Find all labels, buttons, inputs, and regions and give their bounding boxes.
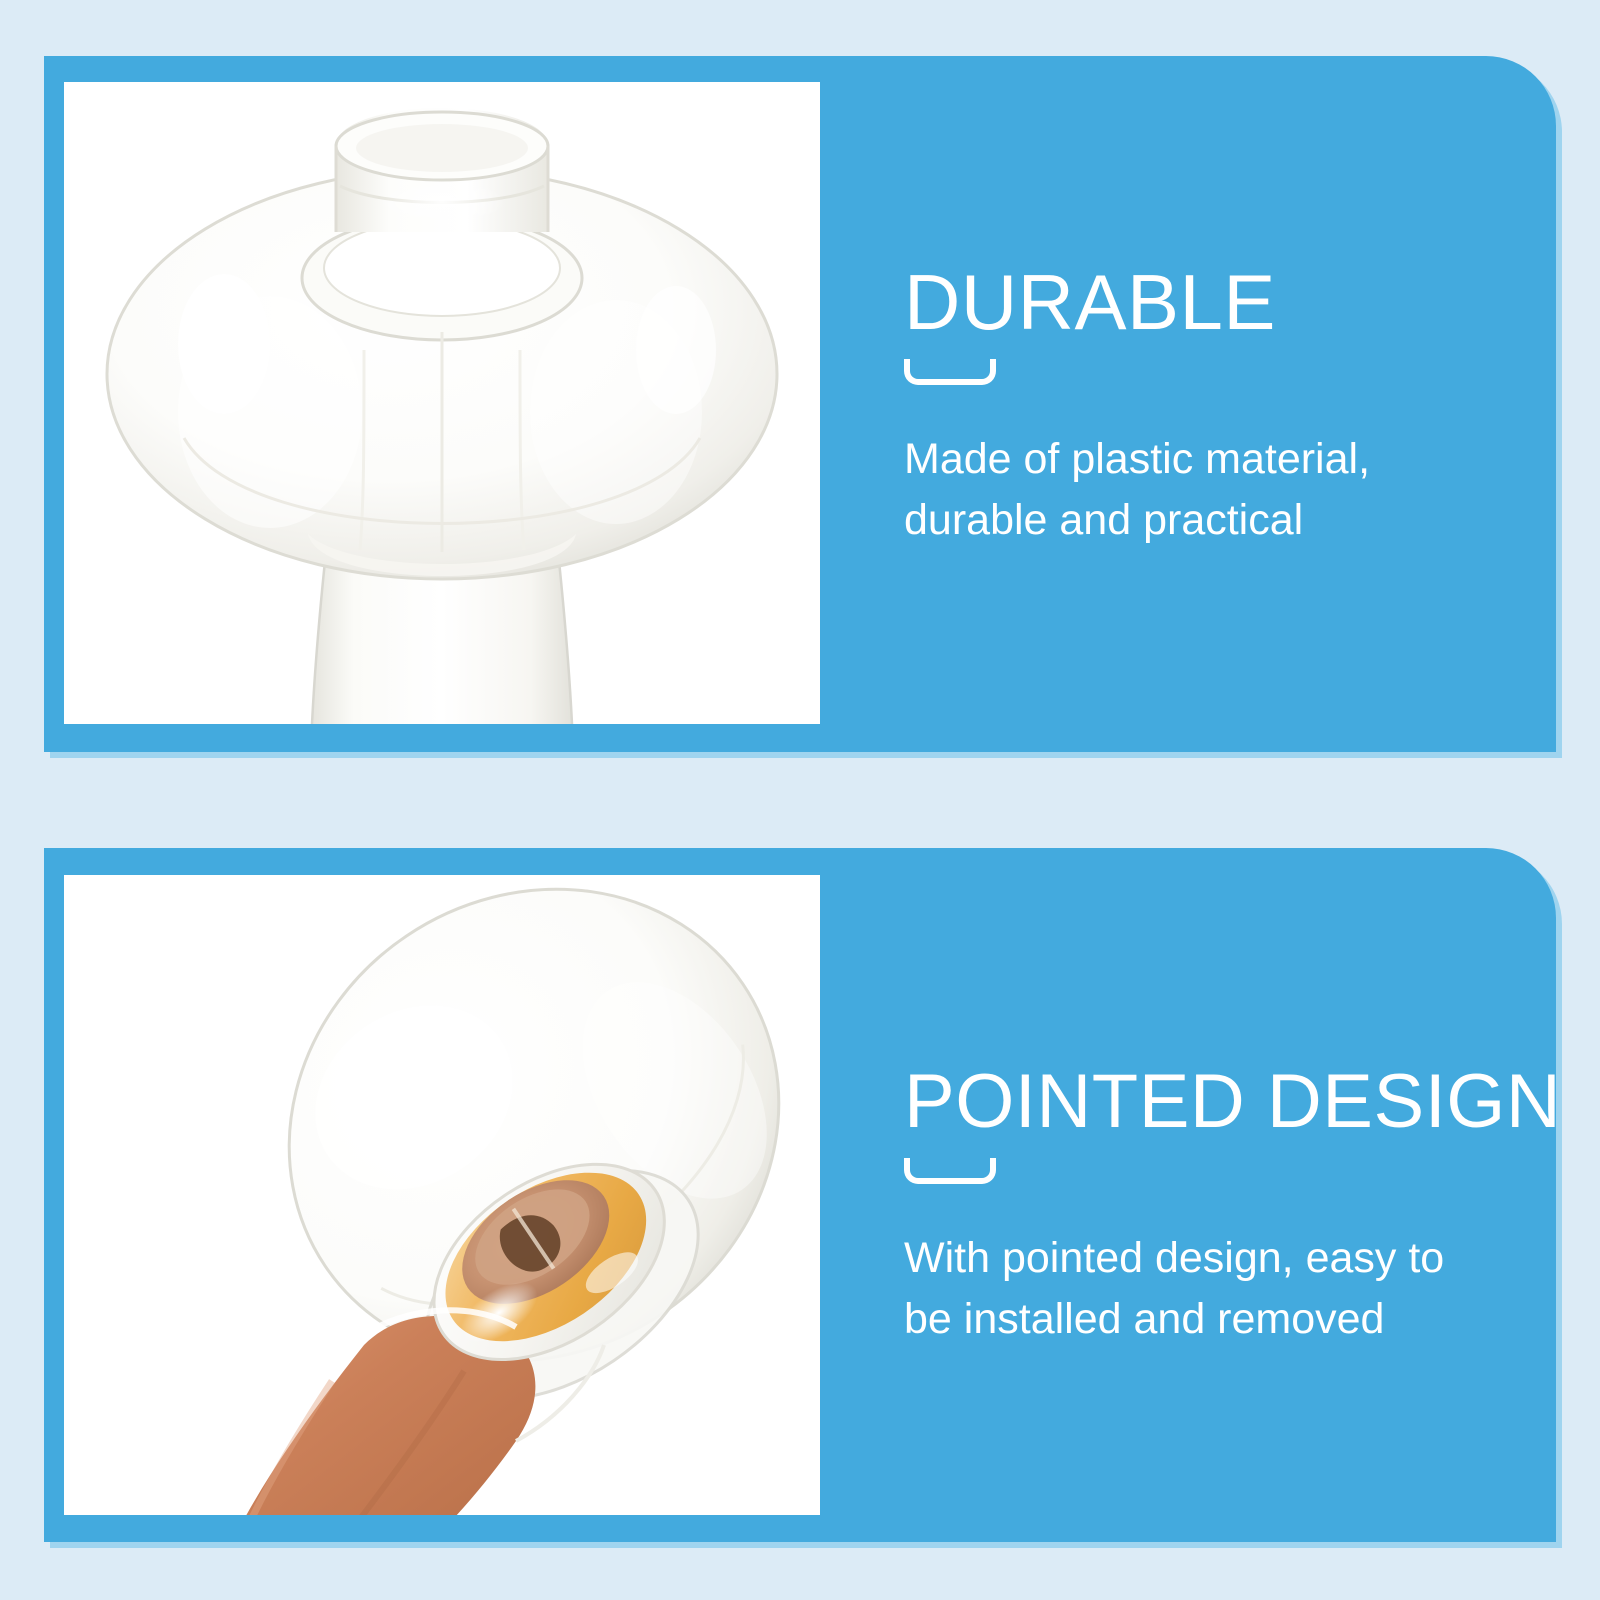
feature-card-durable: DURABLE Made of plastic material, durabl…: [44, 56, 1556, 752]
infographic-page: DURABLE Made of plastic material, durabl…: [0, 0, 1600, 1600]
feature-copy-pointed-design: POINTED DESIGN With pointed design, easy…: [860, 848, 1516, 1542]
feature-description-line-2: durable and practical: [904, 490, 1516, 551]
photo-stage: [64, 82, 820, 724]
headline-bracket-rule: [904, 1158, 996, 1184]
feature-description: Made of plastic material, durable and pr…: [904, 429, 1516, 551]
feature-headline: POINTED DESIGN: [904, 1064, 1516, 1140]
feature-card-layout: POINTED DESIGN With pointed design, easy…: [44, 848, 1556, 1542]
feature-description-line-1: Made of plastic material,: [904, 429, 1516, 490]
feature-headline: DURABLE: [904, 263, 1516, 341]
feature-copy-durable: DURABLE Made of plastic material, durabl…: [860, 56, 1516, 752]
product-photo-dome: [64, 82, 820, 724]
feature-card-layout: DURABLE Made of plastic material, durabl…: [44, 56, 1556, 752]
feature-description-line-2: be installed and removed: [904, 1289, 1516, 1350]
feature-card-pointed-design: POINTED DESIGN With pointed design, easy…: [44, 848, 1556, 1542]
product-photo-spike: [64, 875, 820, 1515]
photo-stage: [64, 875, 820, 1515]
feature-description: With pointed design, easy to be installe…: [904, 1228, 1516, 1350]
feature-description-line-1: With pointed design, easy to: [904, 1228, 1516, 1289]
headline-bracket-rule: [904, 359, 996, 385]
